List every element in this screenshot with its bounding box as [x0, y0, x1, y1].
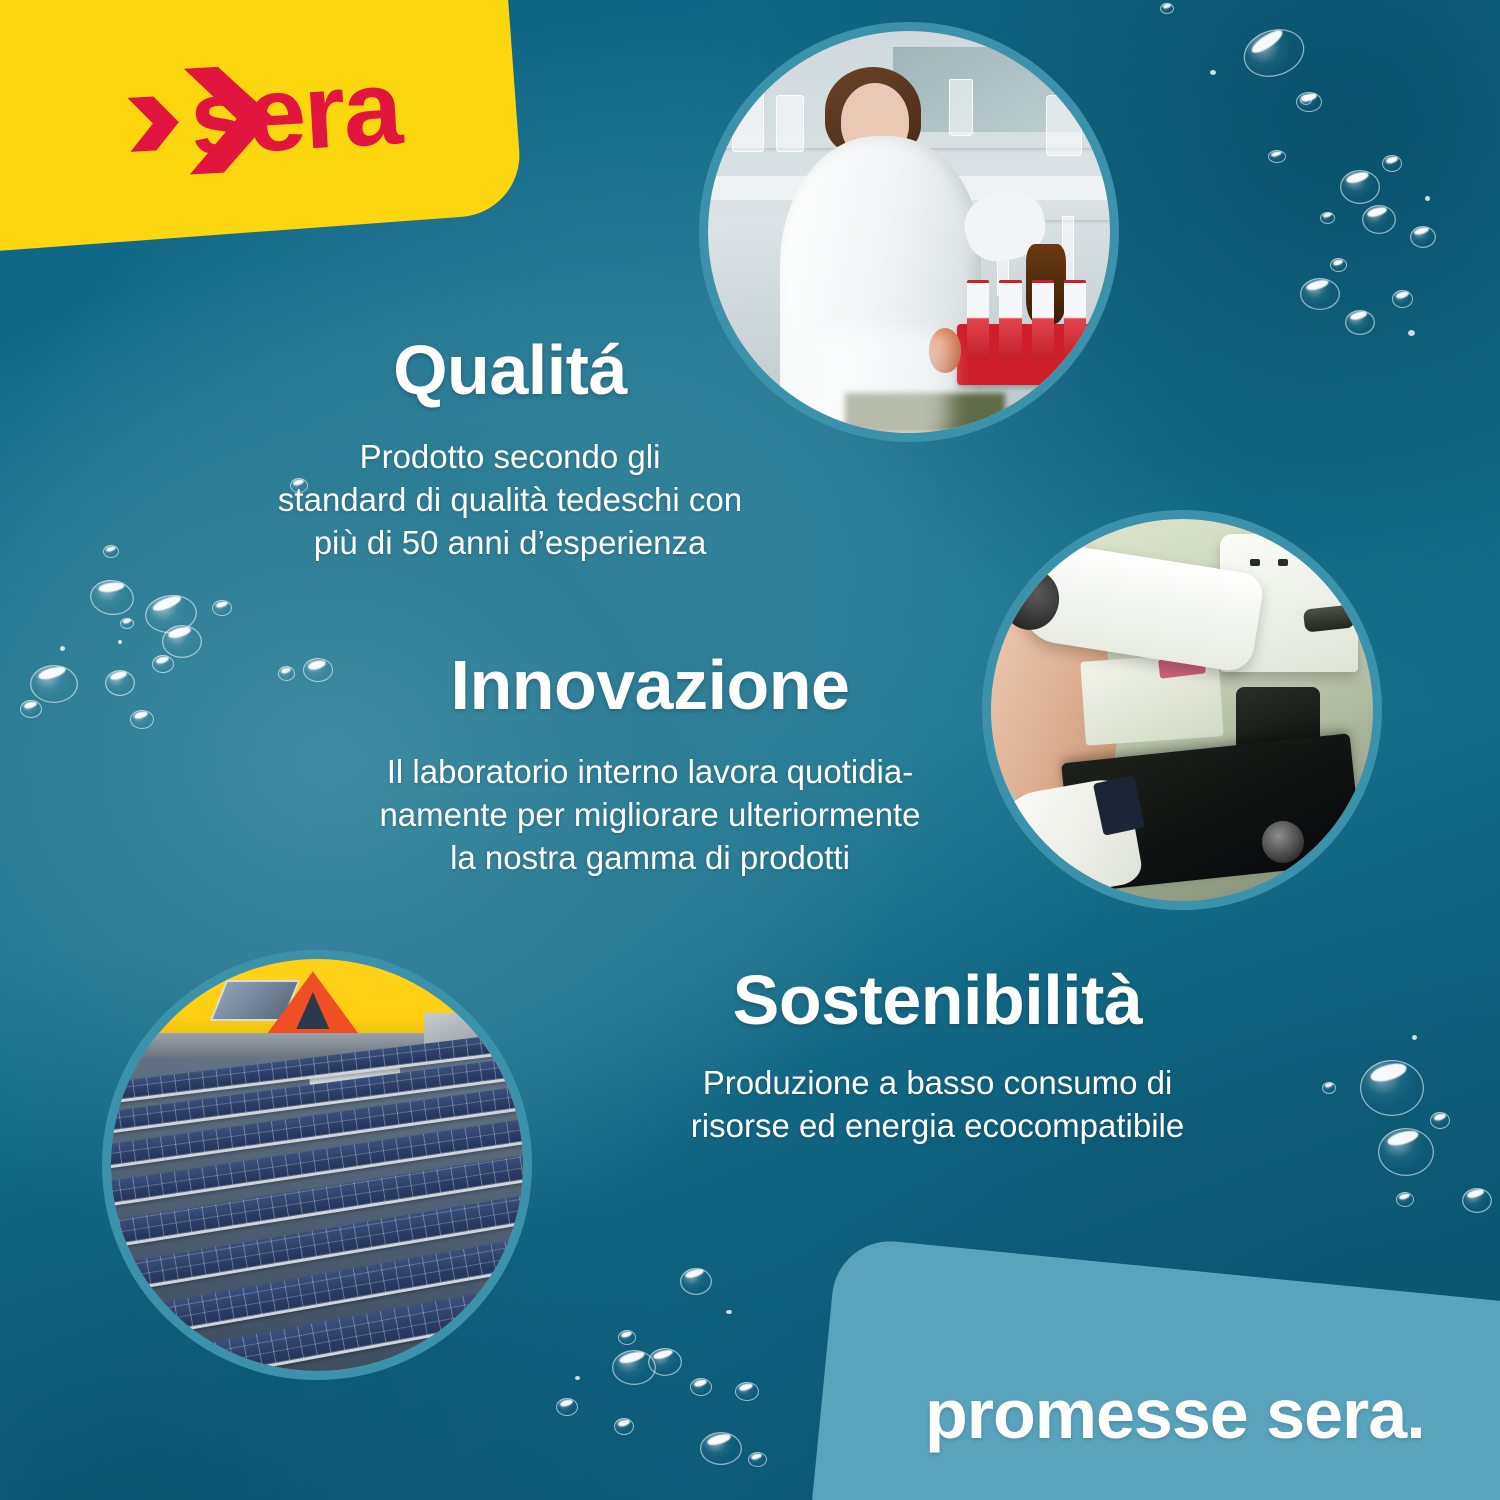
bubble	[618, 1330, 636, 1345]
bubble-speck	[1408, 330, 1415, 336]
bubble	[152, 655, 174, 673]
feature-block-quality: Qualitá Prodotto secondo gli standard di…	[215, 335, 805, 565]
bubble	[278, 666, 295, 681]
bubble	[735, 1382, 759, 1401]
feature-body-sustainability: Produzione a basso consumo di risorse ed…	[595, 1062, 1280, 1148]
bubble	[680, 1268, 712, 1295]
bubble	[1462, 1188, 1492, 1213]
feature-body-line: più di 50 anni d’esperienza	[215, 522, 805, 565]
feature-body-line: Produzione a basso consumo di	[595, 1062, 1280, 1105]
brand-wordmark: sera	[187, 54, 403, 172]
bubble	[103, 545, 119, 558]
poster-canvas: sera	[0, 0, 1500, 1500]
bubble-speck	[118, 640, 122, 644]
feature-heading-innovation: Innovazione	[300, 650, 1000, 721]
bubble	[1322, 1082, 1336, 1094]
bubble	[1330, 258, 1347, 272]
bubble	[1410, 226, 1436, 248]
bubble	[648, 1348, 682, 1376]
bubble	[88, 577, 136, 618]
feature-body-line: Il laboratorio interno lavora quotidia-	[300, 751, 1000, 794]
bubble	[1430, 1112, 1450, 1129]
bubble-speck	[726, 1310, 732, 1314]
footer-tagline: promesse sera.	[925, 1374, 1425, 1454]
feature-body-line: la nostra gamma di prodotti	[300, 837, 1000, 880]
bubble	[130, 710, 154, 729]
feature-body-quality: Prodotto secondo gli standard di qualità…	[215, 436, 805, 565]
feature-heading-quality: Qualitá	[215, 335, 805, 406]
bubble-speck	[1412, 1035, 1417, 1040]
bubble	[1237, 22, 1310, 85]
feature-body-line: namente per migliorare ulteriormente	[300, 794, 1000, 837]
bubble	[1392, 290, 1413, 308]
bubble	[556, 1398, 578, 1416]
bubble	[1320, 212, 1335, 224]
bubble	[1345, 310, 1375, 335]
bubble	[105, 670, 135, 696]
feature-body-line: standard di qualità tedeschi con	[215, 479, 805, 522]
bubble	[1382, 155, 1402, 172]
bubble	[1160, 3, 1174, 14]
feature-body-line: Prodotto secondo gli	[215, 436, 805, 479]
bubble	[700, 1432, 742, 1465]
bubble	[212, 600, 232, 616]
bubble	[30, 665, 78, 703]
feature-block-sustainability: Sostenibilità Produzione a basso consumo…	[595, 965, 1280, 1148]
bubble	[120, 618, 134, 629]
feature-heading-sustainability: Sostenibilità	[595, 965, 1280, 1036]
bubble	[1300, 95, 1312, 105]
bubble	[20, 700, 42, 718]
bubble	[1378, 1128, 1434, 1176]
bubble	[162, 625, 202, 658]
bubble	[690, 1378, 712, 1396]
bubble-speck	[1210, 70, 1216, 75]
bubble-speck	[1425, 196, 1430, 201]
bubble	[1396, 1192, 1414, 1207]
bubble	[1360, 1060, 1424, 1116]
bubble	[1340, 170, 1380, 204]
bubble	[614, 1418, 634, 1435]
bubble-speck	[575, 1376, 580, 1380]
bubble	[748, 1452, 767, 1467]
bubble	[1362, 205, 1396, 234]
feature-body-line: risorse ed energia ecocompatibile	[595, 1105, 1280, 1148]
bubble-speck	[60, 646, 65, 651]
feature-block-innovation: Innovazione Il laboratorio interno lavor…	[300, 650, 1000, 880]
solar-panels-photo-circle	[102, 950, 532, 1380]
feature-body-innovation: Il laboratorio interno lavora quotidia- …	[300, 751, 1000, 880]
bubble	[1300, 278, 1340, 310]
bubble	[1268, 150, 1286, 163]
microscope-photo-circle	[982, 510, 1382, 910]
